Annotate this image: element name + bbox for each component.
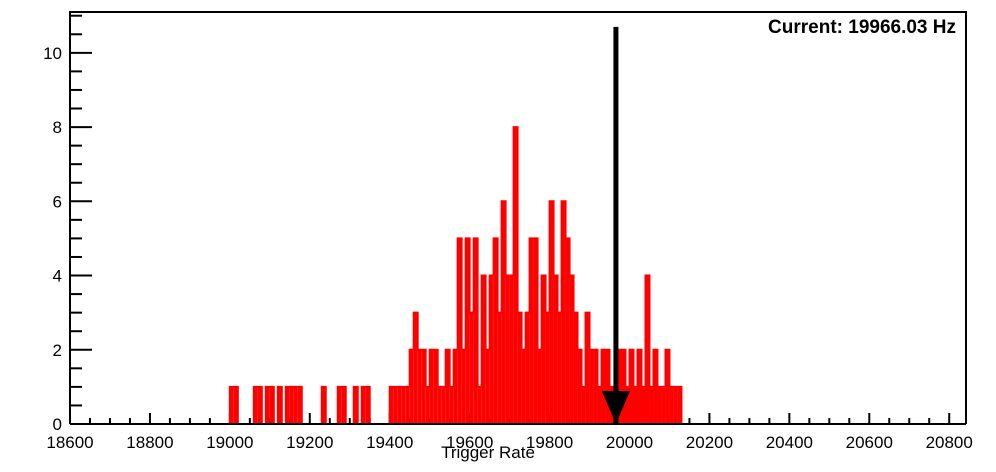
histogram-bar — [446, 350, 450, 424]
histogram-bar — [534, 238, 538, 424]
x-tick-label: 20400 — [766, 433, 813, 452]
histogram-bar — [630, 350, 634, 424]
histogram-bar — [230, 387, 234, 424]
histogram-bar — [490, 276, 494, 424]
histogram-bar — [470, 313, 474, 424]
histogram-bar — [554, 276, 558, 424]
histogram-bar — [278, 387, 282, 424]
histogram-bar — [598, 387, 602, 424]
histogram-bar — [294, 387, 298, 424]
histogram-bar — [641, 387, 645, 424]
histogram-bar — [254, 387, 258, 424]
histogram-bar — [414, 313, 418, 424]
histogram-bar — [286, 387, 290, 424]
y-tick-label: 0 — [53, 415, 62, 434]
histogram-bar — [258, 387, 262, 424]
histogram-bar — [442, 387, 446, 424]
histogram-bar — [514, 127, 518, 424]
histogram-bar — [518, 313, 522, 424]
histogram-bar — [474, 238, 478, 424]
histogram-bar — [594, 350, 598, 424]
x-tick-label: 19200 — [286, 433, 333, 452]
histogram-bar — [454, 350, 458, 424]
histogram-bar — [538, 350, 542, 424]
histogram-bar — [298, 387, 302, 424]
x-tick-label: 20800 — [926, 433, 973, 452]
histogram-bar — [546, 313, 550, 424]
histogram-bar — [677, 387, 681, 424]
histogram-bar — [622, 350, 626, 424]
x-tick-label: 20600 — [846, 433, 893, 452]
histogram-bar — [394, 387, 398, 424]
histogram-bar — [366, 387, 370, 424]
histogram-bar — [578, 350, 582, 424]
histogram-bar — [482, 276, 486, 424]
histogram-bar — [450, 387, 454, 424]
histogram-bar — [430, 350, 434, 424]
histogram-bar — [637, 350, 641, 424]
x-tick-label: 20000 — [606, 433, 653, 452]
histogram-bar — [649, 387, 653, 424]
histogram-bar — [566, 238, 570, 424]
histogram-bar — [562, 201, 566, 424]
y-tick-label: 10 — [43, 44, 62, 63]
histogram-bar — [661, 387, 665, 424]
histogram-bar — [590, 350, 594, 424]
x-tick-label: 20200 — [686, 433, 733, 452]
histogram-bar — [290, 387, 294, 424]
histogram-bar — [586, 313, 590, 424]
histogram-bar — [522, 350, 526, 424]
histogram-bar — [418, 350, 422, 424]
histogram-bar — [406, 387, 410, 424]
histogram-bar — [633, 387, 637, 424]
histogram-bar — [574, 313, 578, 424]
histogram-bar — [390, 387, 394, 424]
histogram-bar — [498, 313, 502, 424]
x-tick-label: 18800 — [126, 433, 173, 452]
trigger-rate-histogram: 1860018800190001920019400196001980020000… — [0, 0, 996, 472]
x-tick-label: 18600 — [46, 433, 93, 452]
y-tick-label: 4 — [53, 267, 62, 286]
histogram-bar — [542, 276, 546, 424]
histogram-bar — [342, 387, 346, 424]
histogram-bar — [354, 387, 358, 424]
histogram-bar — [606, 350, 610, 424]
histogram-bar — [645, 276, 649, 424]
histogram-bar — [462, 350, 466, 424]
y-tick-label: 2 — [53, 341, 62, 360]
histogram-bar — [673, 387, 677, 424]
histogram-bar — [494, 238, 498, 424]
histogram-bar — [338, 387, 342, 424]
histogram-bar — [530, 238, 534, 424]
histogram-bar — [665, 350, 669, 424]
histogram-bar — [422, 350, 426, 424]
current-rate-label: Current: 19966.03 Hz — [768, 17, 956, 39]
histogram-bar — [506, 276, 510, 424]
histogram-bar — [657, 387, 661, 424]
histogram-bar — [266, 387, 270, 424]
histogram-bar — [270, 387, 274, 424]
y-tick-label: 6 — [53, 192, 62, 211]
histogram-bar — [438, 387, 442, 424]
histogram-bar — [653, 350, 657, 424]
y-tick-label: 8 — [53, 118, 62, 137]
histogram-bar — [410, 350, 414, 424]
histogram-canvas: 1860018800190001920019400196001980020000… — [0, 0, 996, 472]
x-tick-label: 19400 — [366, 433, 413, 452]
histogram-bar — [558, 313, 562, 424]
histogram-bar — [669, 387, 673, 424]
x-axis-title: Trigger Rate — [441, 443, 535, 462]
histogram-bar — [434, 350, 438, 424]
histogram-bar — [510, 276, 514, 424]
histogram-bar — [486, 350, 490, 424]
histogram-bar — [582, 387, 586, 424]
histogram-bar — [322, 387, 326, 424]
histogram-bar — [526, 313, 530, 424]
histogram-bar — [426, 387, 430, 424]
histogram-bar — [402, 387, 406, 424]
histogram-bar — [502, 201, 506, 424]
histogram-bar — [398, 387, 402, 424]
histogram-bar — [466, 238, 470, 424]
histogram-bar — [570, 276, 574, 424]
histogram-bar — [458, 238, 462, 424]
histogram-bar — [602, 350, 606, 424]
histogram-bar — [550, 201, 554, 424]
histogram-bar — [362, 387, 366, 424]
histogram-bar — [478, 387, 482, 424]
x-tick-label: 19000 — [206, 433, 253, 452]
histogram-bar — [234, 387, 238, 424]
